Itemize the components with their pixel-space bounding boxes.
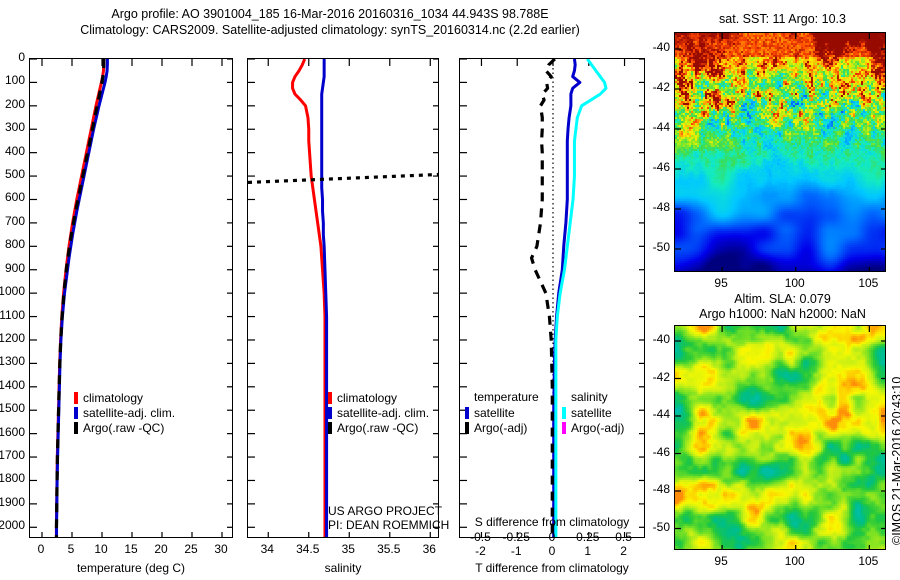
sla-map-title: Altim. SLA: 0.079 Argo h1000: NaN h2000:…: [665, 292, 900, 322]
temperature-profile-panel[interactable]: [29, 58, 233, 538]
depth-tick-800: 800: [0, 237, 25, 251]
difference-salinity-axis-label: S difference from climatology: [455, 515, 649, 529]
difference-salinity-legend: salinitysatelliteArgo(-adj): [562, 390, 624, 435]
sst-map-image: [675, 33, 886, 272]
salinity-profile-panel[interactable]: [247, 58, 439, 538]
temperature-legend-item: climatology: [74, 390, 175, 405]
sla-ytick--46: -46: [628, 445, 670, 459]
sst-ytick--44: -44: [628, 120, 670, 134]
legend-label: Argo(.raw -QC): [83, 421, 164, 435]
depth-tick-1500: 1500: [0, 401, 25, 415]
depth-tick-1900: 1900: [0, 495, 25, 509]
temperature-legend: climatologysatellite-adj. clim.Argo(.raw…: [74, 390, 175, 435]
difference-plot-area: [460, 59, 645, 538]
title-line-1: Argo profile: AO 3901004_185 16-Mar-2016…: [0, 6, 660, 22]
legend-color-swatch: [74, 407, 78, 419]
difference-temperature-legend-item: satellite: [465, 405, 539, 420]
depth-tick-100: 100: [0, 73, 25, 87]
sla-ytick--40: -40: [628, 332, 670, 346]
legend-label: satellite: [474, 406, 515, 420]
legend-color-swatch: [74, 422, 78, 434]
legend-color-swatch: [562, 422, 566, 434]
legend-color-swatch: [328, 407, 332, 419]
legend-label: satellite: [571, 406, 612, 420]
depth-tick-300: 300: [0, 120, 25, 134]
salinity-plot-area: [248, 59, 439, 538]
sst-ytick--46: -46: [628, 160, 670, 174]
salinity-xtick-36: 36: [404, 542, 454, 556]
imos-copyright: ©IMOS 21-Mar-2016 20:43:10: [890, 377, 900, 545]
title-line-2: Climatology: CARS2009. Satellite-adjuste…: [0, 22, 660, 38]
depth-tick-1400: 1400: [0, 378, 25, 392]
salinity-legend: climatologysatellite-adj. clim.Argo(.raw…: [328, 390, 429, 435]
sst-ytick--50: -50: [628, 240, 670, 254]
depth-tick-700: 700: [0, 214, 25, 228]
difference-temperature-legend: temperaturesatelliteArgo(-adj): [465, 390, 539, 435]
legend-label: Argo(-adj): [571, 421, 624, 435]
difference-t-xtick-2: 2: [599, 544, 649, 558]
difference-salinity-legend-item: Argo(-adj): [562, 420, 624, 435]
depth-tick-1800: 1800: [0, 471, 25, 485]
temperature-plot-area: [30, 59, 233, 538]
sla-title-line-2: Argo h1000: NaN h2000: NaN: [665, 307, 900, 322]
difference-profile-panel[interactable]: [459, 58, 645, 538]
sst-map-title: sat. SST: 11 Argo: 10.3: [665, 12, 900, 27]
temperature-xtick-30: 30: [196, 542, 246, 556]
salinity-legend-item: Argo(.raw -QC): [328, 420, 429, 435]
project-name: US ARGO PROJECT: [328, 504, 449, 518]
sla-title-line-1: Altim. SLA: 0.079: [665, 292, 900, 307]
legend-label: Argo(-adj): [474, 421, 527, 435]
sla-ytick--42: -42: [628, 370, 670, 384]
legend-color-swatch: [328, 392, 332, 404]
argo-project-credit: US ARGO PROJECT PI: DEAN ROEMMICH: [328, 504, 449, 532]
temperature-xaxis-label: temperature (deg C): [29, 561, 233, 575]
sla-map[interactable]: [674, 325, 886, 550]
depth-tick-900: 900: [0, 261, 25, 275]
sst-ytick--40: -40: [628, 40, 670, 54]
sst-xtick-95: 95: [696, 276, 746, 290]
depth-tick-200: 200: [0, 97, 25, 111]
depth-tick-1100: 1100: [0, 308, 25, 322]
legend-color-swatch: [328, 422, 332, 434]
difference-temperature-legend-header: temperature: [465, 390, 539, 405]
principal-investigator: PI: DEAN ROEMMICH: [328, 518, 449, 532]
salinity-legend-item: satellite-adj. clim.: [328, 405, 429, 420]
legend-color-swatch: [562, 407, 566, 419]
argo-profile-figure: Argo profile: AO 3901004_185 16-Mar-2016…: [0, 0, 900, 580]
depth-tick-1000: 1000: [0, 284, 25, 298]
depth-tick-1600: 1600: [0, 425, 25, 439]
depth-tick-500: 500: [0, 167, 25, 181]
legend-label: satellite-adj. clim.: [83, 406, 175, 420]
sla-ytick--48: -48: [628, 482, 670, 496]
depth-tick-1700: 1700: [0, 448, 25, 462]
legend-color-swatch: [465, 407, 469, 419]
sst-ytick--48: -48: [628, 200, 670, 214]
temperature-legend-item: satellite-adj. clim.: [74, 405, 175, 420]
sla-xtick-100: 100: [770, 554, 820, 568]
legend-color-swatch: [465, 422, 469, 434]
legend-label: Argo(.raw -QC): [337, 421, 418, 435]
sla-map-image: [675, 326, 886, 550]
sla-xtick-95: 95: [696, 554, 746, 568]
sst-xtick-105: 105: [843, 276, 893, 290]
sla-ytick--44: -44: [628, 407, 670, 421]
salinity-legend-item: climatology: [328, 390, 429, 405]
depth-tick-600: 600: [0, 190, 25, 204]
difference-salinity-legend-header: salinity: [562, 390, 624, 405]
depth-tick-1300: 1300: [0, 354, 25, 368]
sst-xtick-100: 100: [770, 276, 820, 290]
difference-temperature-axis-label: T difference from climatology: [455, 561, 649, 575]
legend-color-swatch: [74, 392, 78, 404]
figure-title: Argo profile: AO 3901004_185 16-Mar-2016…: [0, 6, 660, 38]
legend-label: climatology: [83, 391, 143, 405]
difference-temperature-legend-item: Argo(-adj): [465, 420, 539, 435]
sst-map[interactable]: [674, 32, 886, 272]
depth-tick-2000: 2000: [0, 518, 25, 532]
sla-xtick-105: 105: [843, 554, 893, 568]
legend-label: climatology: [337, 391, 397, 405]
depth-tick-400: 400: [0, 144, 25, 158]
salinity-xaxis-label: salinity: [247, 561, 439, 575]
sst-ytick--42: -42: [628, 80, 670, 94]
temperature-legend-item: Argo(.raw -QC): [74, 420, 175, 435]
depth-tick-0: 0: [0, 50, 25, 64]
sla-ytick--50: -50: [628, 520, 670, 534]
difference-salinity-legend-item: satellite: [562, 405, 624, 420]
legend-label: satellite-adj. clim.: [337, 406, 429, 420]
depth-tick-1200: 1200: [0, 331, 25, 345]
